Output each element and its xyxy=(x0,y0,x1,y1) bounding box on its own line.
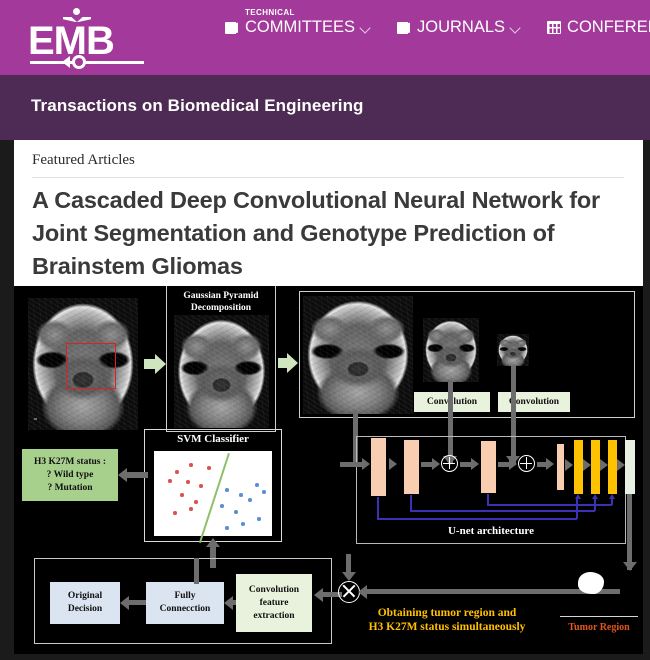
decision-arrow-1 xyxy=(120,596,129,610)
conv-feature-extraction-box: Convolution feature extraction xyxy=(236,574,312,632)
unet-layer-peach-4 xyxy=(557,444,564,490)
unet-flow-arrow-8 xyxy=(600,459,608,471)
unet-label: U-net architecture xyxy=(356,525,626,537)
conv-feat-line3: extraction xyxy=(253,610,294,623)
pulse-rule-icon xyxy=(30,61,144,64)
skip-connection-1 xyxy=(377,497,379,520)
unet-layer-peach-2 xyxy=(404,440,419,494)
obtaining-caption: Obtaining tumor region and H3 K27M statu… xyxy=(332,606,562,634)
skip-connection-3-v2 xyxy=(611,497,613,505)
nav-label-conferences: CONFERENCES xyxy=(567,18,650,37)
original-decision-line1: Original xyxy=(68,590,102,603)
site-header: EMB TECHNICAL COMMITTEES JOURNALS xyxy=(0,0,650,75)
unet-flow-arrow-5 xyxy=(546,458,554,470)
chevron-down-icon[interactable] xyxy=(510,22,521,33)
unet-input-line xyxy=(340,462,362,467)
obtaining-caption-line1: Obtaining tumor region and xyxy=(332,606,562,620)
mri-scale-small xyxy=(497,334,529,366)
h3-status-line2: ? Wild type xyxy=(47,469,94,482)
unet-flow-arrow-7 xyxy=(583,459,591,471)
gaussian-pyramid-label-line2: Decomposition xyxy=(166,302,276,314)
tumor-region-label: Tumor Region xyxy=(560,622,638,633)
convolution-tag-2: Convolution xyxy=(498,392,570,412)
unet-layer-output xyxy=(625,440,635,494)
skip-connection-1-h xyxy=(377,518,577,520)
svm-output-line xyxy=(126,472,148,478)
unet-layer-gold-3 xyxy=(608,440,617,494)
nav-item-technical-committees[interactable]: TECHNICAL COMMITTEES xyxy=(225,18,371,37)
unet-flow-arrow-6 xyxy=(565,459,573,471)
fusion-input-right-arrow xyxy=(358,585,367,599)
nav-superlabel-technical: TECHNICAL xyxy=(245,8,295,17)
mri-scale-medium xyxy=(423,318,479,382)
emb-logo-text: EMB xyxy=(28,20,114,62)
journal-band: Transactions on Biomedical Engineering xyxy=(0,75,650,140)
page-root: EMB TECHNICAL COMMITTEES JOURNALS xyxy=(0,0,650,660)
unet-add-node-2 xyxy=(518,455,535,472)
h3-status-line3: ? Mutation xyxy=(47,482,92,495)
unet-flow-arrow-1 xyxy=(389,458,397,470)
unet-output-arrow xyxy=(623,562,637,571)
conv-feat-line1: Convolution xyxy=(249,584,299,597)
tumor-region-rule xyxy=(560,616,638,617)
unet-flow-arrow-4 xyxy=(509,458,517,470)
chevron-down-icon[interactable] xyxy=(360,22,371,33)
original-decision-line2: Decision xyxy=(68,603,102,616)
unet-layer-peach-1 xyxy=(371,438,386,496)
unet-add-node-1 xyxy=(441,455,458,472)
unet-layer-gold-2 xyxy=(591,440,600,494)
nav-label-committees: COMMITTEES xyxy=(245,18,355,37)
mri-pyramid-level xyxy=(174,315,269,428)
h3-status-line1: H3 K27M status : xyxy=(34,456,106,469)
divider xyxy=(32,177,624,178)
nav-item-conferences[interactable]: CONFERENCES xyxy=(547,18,650,37)
book-icon xyxy=(225,21,240,35)
stem-to-svm xyxy=(34,418,37,420)
gaussian-pyramid-label-line1: Gaussian Pyramid xyxy=(166,290,276,302)
pulse-circle-icon xyxy=(72,55,86,69)
unet-flow-arrow-3 xyxy=(471,458,479,470)
svm-title: SVM Classifier xyxy=(144,433,282,445)
nav-label-journals: JOURNALS xyxy=(417,18,505,37)
decision-arrow-2 xyxy=(224,596,233,610)
unet-layer-gold-1 xyxy=(574,440,583,494)
mri-scale-large xyxy=(303,296,413,414)
main-nav: TECHNICAL COMMITTEES JOURNALS CONFERENCE… xyxy=(225,18,650,37)
fully-connection-line1: Fully xyxy=(174,590,195,603)
svm-scatter-plot xyxy=(154,451,272,536)
unet-layer-peach-3 xyxy=(481,441,496,493)
unet-flow-arrow-2 xyxy=(432,458,440,470)
nav-item-journals[interactable]: JOURNALS xyxy=(397,18,521,37)
journal-title: Transactions on Biomedical Engineering xyxy=(31,96,364,116)
fusion-to-conv-arrow xyxy=(314,588,323,602)
obtaining-caption-line2: H3 K27M status simultaneously xyxy=(332,620,562,634)
skip-connection-1-v2 xyxy=(576,497,578,519)
original-decision-box: Original Decision xyxy=(50,582,120,624)
h3-status-box: H3 K27M status : ? Wild type ? Mutation xyxy=(22,449,118,501)
calendar-icon xyxy=(547,21,562,35)
article-figure[interactable]: Gaussian Pyramid Decomposition xyxy=(14,286,643,654)
section-label-featured-articles: Featured Articles xyxy=(32,152,135,169)
fully-connection-box: Fully Connecction xyxy=(146,582,224,624)
svm-input-arrow xyxy=(206,538,220,547)
conv-feat-line2: feature xyxy=(260,597,289,610)
unet-flow-arrow-9 xyxy=(617,459,625,471)
pulse-arrow-icon xyxy=(62,56,70,68)
unet-output-line xyxy=(627,494,632,570)
skip-connection-3-h xyxy=(487,504,612,506)
book-icon xyxy=(397,21,412,35)
emb-logo[interactable]: EMB xyxy=(28,6,146,68)
unet-input-arrow xyxy=(362,458,370,470)
fc-upstream-line xyxy=(194,558,199,584)
article-title[interactable]: A Cascaded Deep Convolutional Neural Net… xyxy=(32,184,602,283)
person-figure-icon xyxy=(73,8,80,15)
decision-link-1 xyxy=(128,600,146,605)
gaussian-pyramid-label: Gaussian Pyramid Decomposition xyxy=(166,290,276,314)
tumor-region-blob xyxy=(578,572,604,594)
fully-connection-line2: Connecction xyxy=(160,603,211,616)
roi-box xyxy=(66,343,116,389)
fusion-input-top-arrow xyxy=(342,572,356,581)
skip-connection-2-h xyxy=(410,510,595,512)
content-area: Featured Articles A Cascaded Deep Convol… xyxy=(0,140,650,660)
svm-output-arrow xyxy=(118,468,127,482)
fusion-node-multiply xyxy=(338,581,360,603)
